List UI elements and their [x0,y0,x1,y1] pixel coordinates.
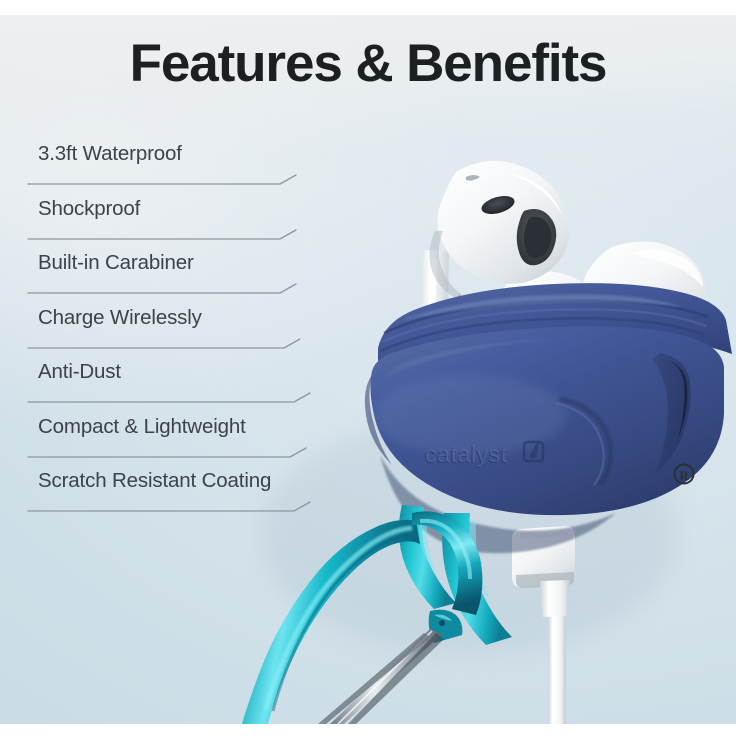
product-feature-image: L [0,0,736,736]
page-title: Features & Benefits [0,33,736,94]
feature-label: Anti-Dust [38,360,121,384]
feature-underline [28,393,328,405]
feature-list: 3.3ft Waterproof Shockproof Built-in Car… [0,139,340,521]
feature-item: Charge Wirelessly [0,303,340,358]
feature-item: 3.3ft Waterproof [0,139,340,194]
feature-label: Scratch Resistant Coating [38,469,271,493]
feature-underline [28,448,328,460]
svg-text:catalyst: catalyst [425,441,508,467]
feature-item: Scratch Resistant Coating [0,466,340,521]
feature-label: Charge Wirelessly [38,306,202,330]
feature-label: Shockproof [38,197,140,221]
feature-item: Anti-Dust [0,357,340,412]
feature-label: Built-in Carabiner [38,251,194,275]
photo-plate: L [0,15,736,724]
feature-label: Compact & Lightweight [38,415,246,439]
svg-text:R: R [679,468,689,483]
feature-underline [28,284,328,296]
feature-label: 3.3ft Waterproof [38,142,182,166]
feature-item: Compact & Lightweight [0,412,340,467]
feature-underline [28,502,328,514]
feature-item: Shockproof [0,194,340,249]
feature-underline [28,339,328,351]
feature-underline [28,175,328,187]
feature-underline [28,230,328,242]
feature-item: Built-in Carabiner [0,248,340,303]
